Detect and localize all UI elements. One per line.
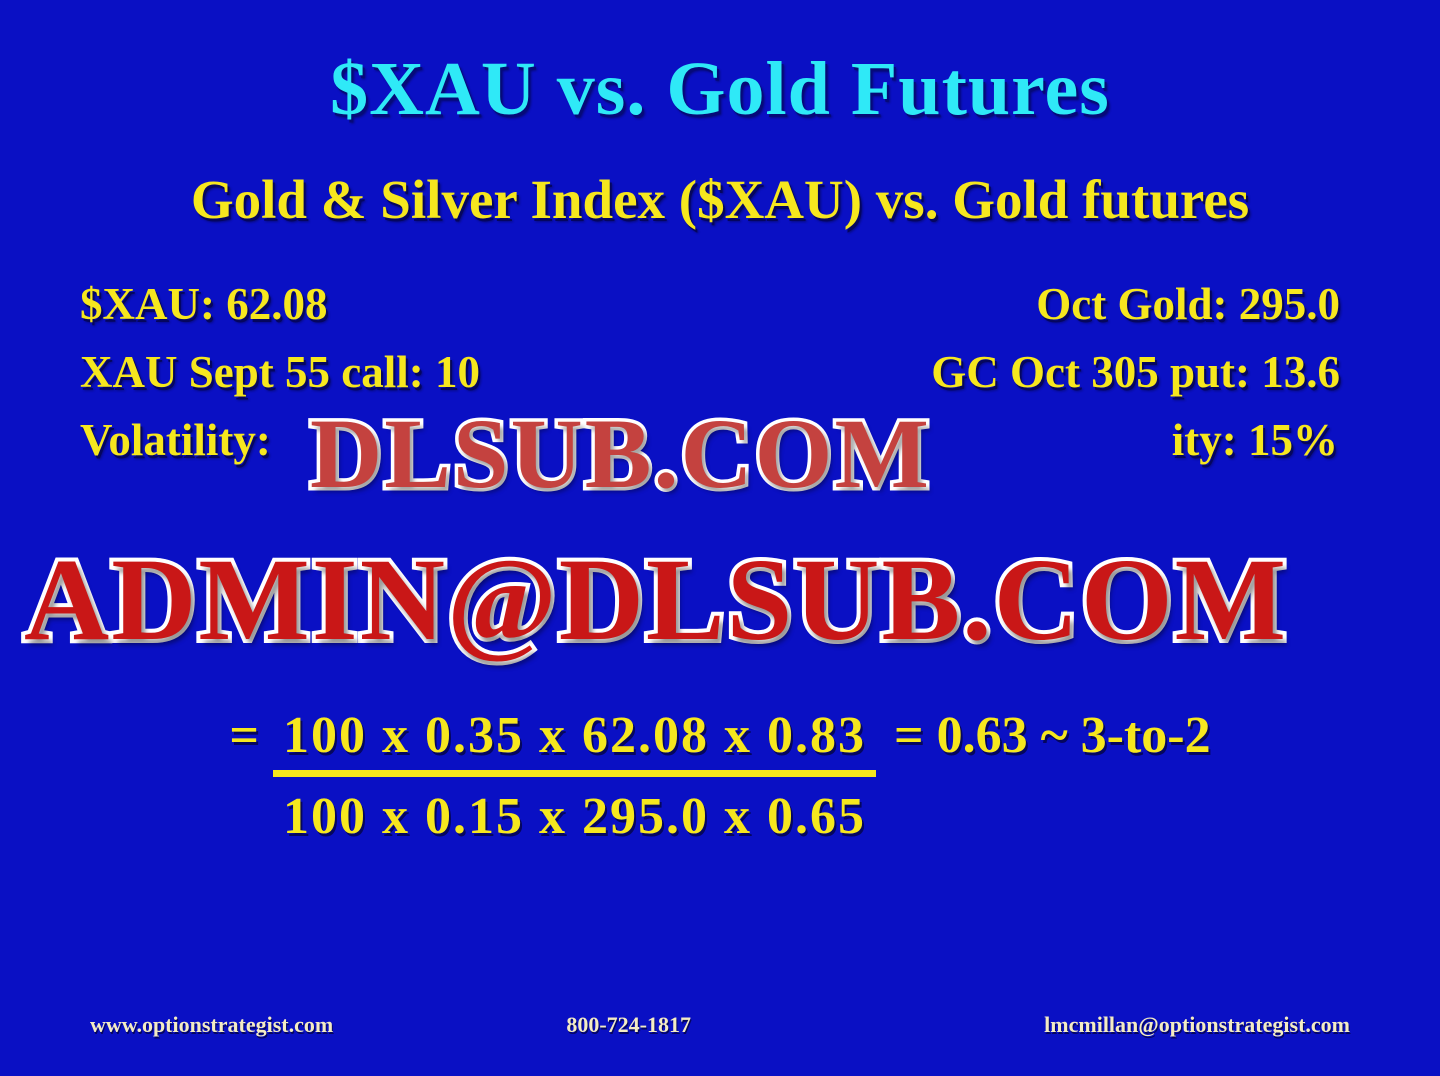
slide-canvas: $XAU vs. Gold Futures Gold & Silver Inde…	[0, 0, 1440, 1076]
ratio-formula: = 100 x 0.35 x 62.08 x 0.83 100 x 0.15 x…	[0, 706, 1440, 846]
footer-email[interactable]: lmcmillan@optionstrategist.com	[1044, 1012, 1350, 1038]
formula-result: = 0.63 ~ 3-to-2	[894, 706, 1211, 765]
watermark-admin-email: ADMIN@DLSUB.COM	[24, 532, 1288, 668]
fraction: 100 x 0.35 x 62.08 x 0.83 100 x 0.15 x 2…	[273, 706, 876, 846]
xau-volatility-label: Volatility:	[80, 414, 271, 466]
slide-title: $XAU vs. Gold Futures	[0, 46, 1440, 133]
gold-volatility-label: ity: 15%	[1172, 414, 1360, 466]
slide-subtitle: Gold & Silver Index ($XAU) vs. Gold futu…	[0, 168, 1440, 231]
fraction-numerator: 100 x 0.35 x 62.08 x 0.83	[273, 707, 876, 777]
gc-put-option-label: GC Oct 305 put: 13.6	[931, 346, 1360, 398]
watermark-dlsub: DLSUB.COM	[310, 396, 931, 511]
formula-line: = 100 x 0.35 x 62.08 x 0.83 100 x 0.15 x…	[0, 706, 1440, 846]
footer: www.optionstrategist.com 800-724-1817 lm…	[90, 1012, 1350, 1038]
footer-website[interactable]: www.optionstrategist.com	[90, 1012, 333, 1038]
xau-call-option-label: XAU Sept 55 call: 10	[80, 346, 480, 398]
formula-equals-sign: =	[229, 706, 259, 765]
fraction-denominator: 100 x 0.15 x 295.0 x 0.65	[273, 765, 876, 846]
footer-phone: 800-724-1817	[566, 1012, 691, 1038]
quote-row: $XAU: 62.08 Oct Gold: 295.0	[80, 278, 1360, 346]
gold-price-label: Oct Gold: 295.0	[1036, 278, 1360, 330]
xau-price-label: $XAU: 62.08	[80, 278, 327, 330]
